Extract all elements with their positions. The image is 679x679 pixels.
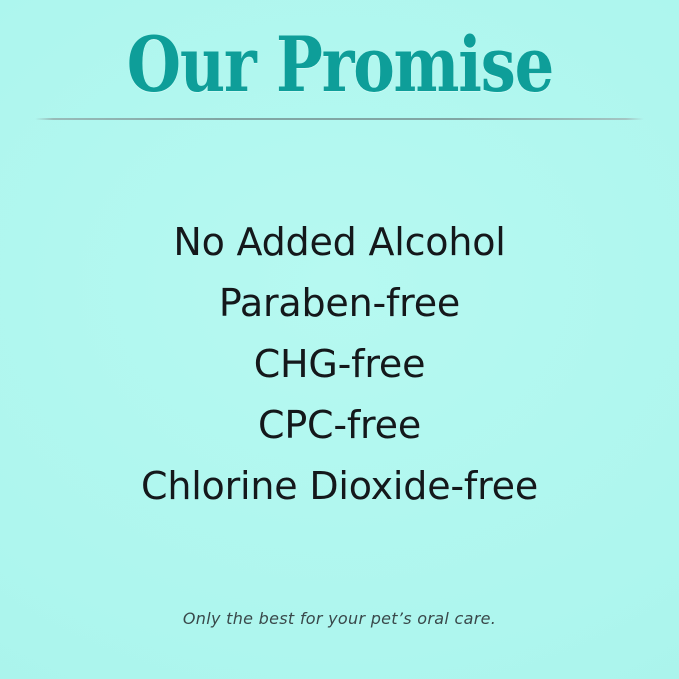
title-divider	[35, 118, 644, 120]
list-item: Paraben-free	[219, 273, 460, 334]
footer-tagline: Only the best for your pet’s oral care.	[0, 608, 679, 630]
list-item: No Added Alcohol	[173, 212, 505, 273]
page-title: Our Promise	[126, 24, 552, 106]
list-item: CHG-free	[254, 334, 426, 395]
list-item: CPC-free	[258, 395, 421, 456]
our-promise-card: Our Promise No Added Alcohol Paraben-fre…	[0, 0, 679, 679]
list-item: Chlorine Dioxide-free	[141, 456, 538, 517]
title-block: Our Promise	[0, 0, 679, 120]
claims-list: No Added Alcohol Paraben-free CHG-free C…	[0, 212, 679, 517]
